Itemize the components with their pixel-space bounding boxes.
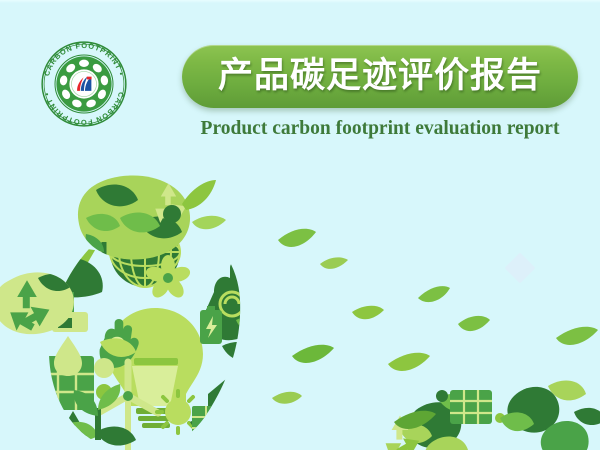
leaf-icon bbox=[182, 180, 216, 210]
page-subtitle: Product carbon footprint evaluation repo… bbox=[182, 118, 578, 140]
leaf-icon bbox=[352, 306, 384, 320]
water-drop-icon bbox=[54, 336, 82, 376]
leaf-icon bbox=[192, 216, 226, 230]
leaf-icon bbox=[292, 345, 334, 363]
leaf-icon bbox=[458, 316, 490, 331]
leaf-icon bbox=[272, 392, 302, 404]
leaf-icon bbox=[388, 353, 430, 371]
sun-icon bbox=[163, 205, 181, 223]
top-edge-line bbox=[0, 0, 600, 3]
report-title-banner: 产品碳足迹评价报告 bbox=[182, 45, 578, 108]
page-title: 产品碳足迹评价报告 bbox=[218, 59, 542, 94]
cover-header: CARBON FOOTPRINT • CARBON FOOTPRINT • bbox=[0, 0, 600, 165]
leaf-icon bbox=[320, 257, 348, 269]
carbon-footprint-seal-icon: CARBON FOOTPRINT • CARBON FOOTPRINT • bbox=[38, 38, 130, 130]
house-icon bbox=[208, 374, 256, 426]
leaf-icon bbox=[556, 327, 598, 345]
leaf-icon bbox=[418, 286, 450, 302]
report-cover-page: CARBON FOOTPRINT • CARBON FOOTPRINT • bbox=[0, 0, 600, 450]
leaf-icon bbox=[278, 229, 316, 247]
eco-footprint-collage bbox=[0, 160, 600, 450]
battery-icon bbox=[200, 306, 222, 344]
solar-panel-icon bbox=[192, 406, 236, 440]
